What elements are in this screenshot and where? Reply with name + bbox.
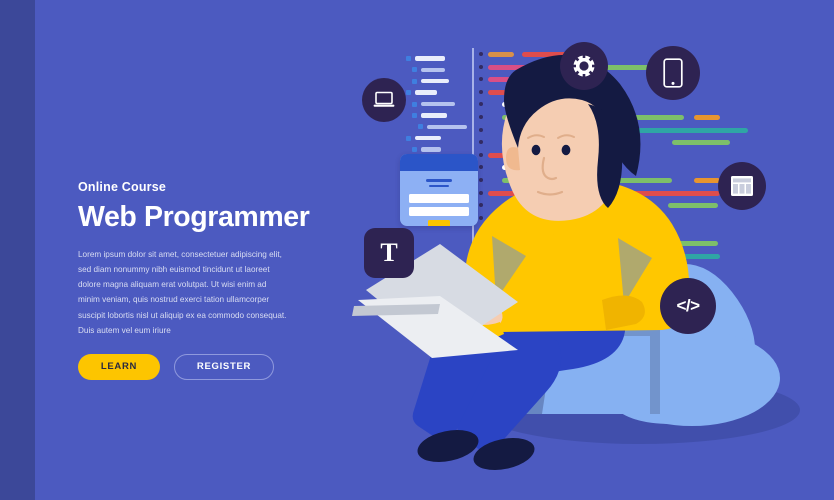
text-tool-glyph: T <box>380 240 397 266</box>
gear-icon[interactable] <box>560 42 608 90</box>
hero-paragraph: Lorem ipsum dolor sit amet, consectetuer… <box>78 247 288 338</box>
layout-icon[interactable] <box>718 162 766 210</box>
code-glyph: </> <box>676 296 699 316</box>
hero-banner: Online Course Web Programmer Lorem ipsum… <box>0 0 834 500</box>
laptop-icon[interactable] <box>362 78 406 122</box>
mobile-icon[interactable] <box>646 46 700 100</box>
cta-button-row: LEARN REGISTER <box>78 354 323 380</box>
learn-button[interactable]: LEARN <box>78 354 160 380</box>
hero-copy-block: Online Course Web Programmer Lorem ipsum… <box>78 180 323 380</box>
left-accent-stripe <box>0 0 35 500</box>
code-icon[interactable]: </> <box>660 278 716 334</box>
register-button[interactable]: REGISTER <box>174 354 274 380</box>
eyebrow-label: Online Course <box>78 180 323 194</box>
hero-illustration: T </> <box>340 0 834 500</box>
text-tool-icon[interactable]: T <box>364 228 414 278</box>
page-title: Web Programmer <box>78 203 323 233</box>
